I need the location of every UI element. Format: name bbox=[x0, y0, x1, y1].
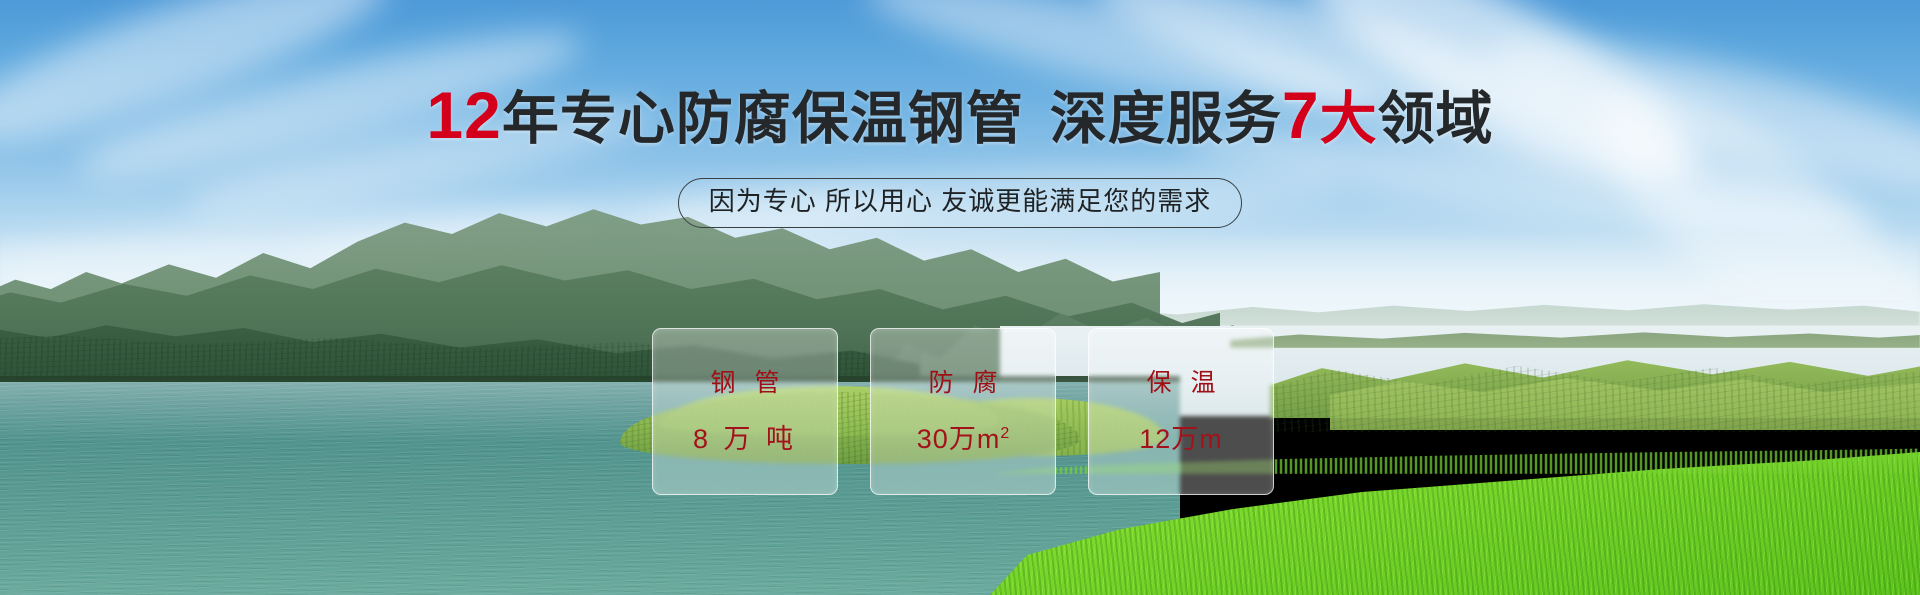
stat-card-insulation[interactable]: 保 温 12万m bbox=[1088, 328, 1274, 495]
headline-years-number: 12 bbox=[426, 78, 501, 152]
stat-card-value: 12万m bbox=[1139, 426, 1223, 453]
stat-card-value: 30万m2 bbox=[917, 426, 1009, 453]
stat-card-value: 8 万 吨 bbox=[693, 426, 797, 453]
stat-card-value-main: 12万m bbox=[1139, 424, 1223, 454]
headline-fields-number: 7 bbox=[1282, 78, 1320, 152]
hero-banner: 12年专心防腐保温钢管深度服务7大领域 因为专心 所以用心 友诚更能满足您的需求… bbox=[0, 0, 1920, 595]
stat-card-value-main: 30万m bbox=[917, 424, 1001, 454]
headline-fields-suffix: 领域 bbox=[1378, 87, 1494, 151]
stat-card-label: 防 腐 bbox=[923, 371, 1004, 396]
headline-fields-unit: 大 bbox=[1320, 87, 1378, 151]
banner-subtitle-container: 因为专心 所以用心 友诚更能满足您的需求 bbox=[0, 178, 1920, 228]
stat-card-group: 钢 管 8 万 吨 防 腐 30万m2 保 温 12万m bbox=[652, 328, 1274, 495]
stat-card-value-superscript: 2 bbox=[1000, 425, 1009, 442]
stat-card-steel-pipe[interactable]: 钢 管 8 万 吨 bbox=[652, 328, 838, 495]
headline-service-text: 深度服务 bbox=[1050, 87, 1282, 151]
banner-subtitle: 因为专心 所以用心 友诚更能满足您的需求 bbox=[678, 178, 1242, 228]
stat-card-value-main: 8 万 吨 bbox=[693, 424, 797, 454]
banner-headline: 12年专心防腐保温钢管深度服务7大领域 bbox=[0, 82, 1920, 148]
headline-main-text: 年专心防腐保温钢管 bbox=[502, 87, 1024, 151]
stat-card-label: 保 温 bbox=[1141, 371, 1222, 396]
stat-card-anticorrosion[interactable]: 防 腐 30万m2 bbox=[870, 328, 1056, 495]
stat-card-label: 钢 管 bbox=[705, 371, 786, 396]
